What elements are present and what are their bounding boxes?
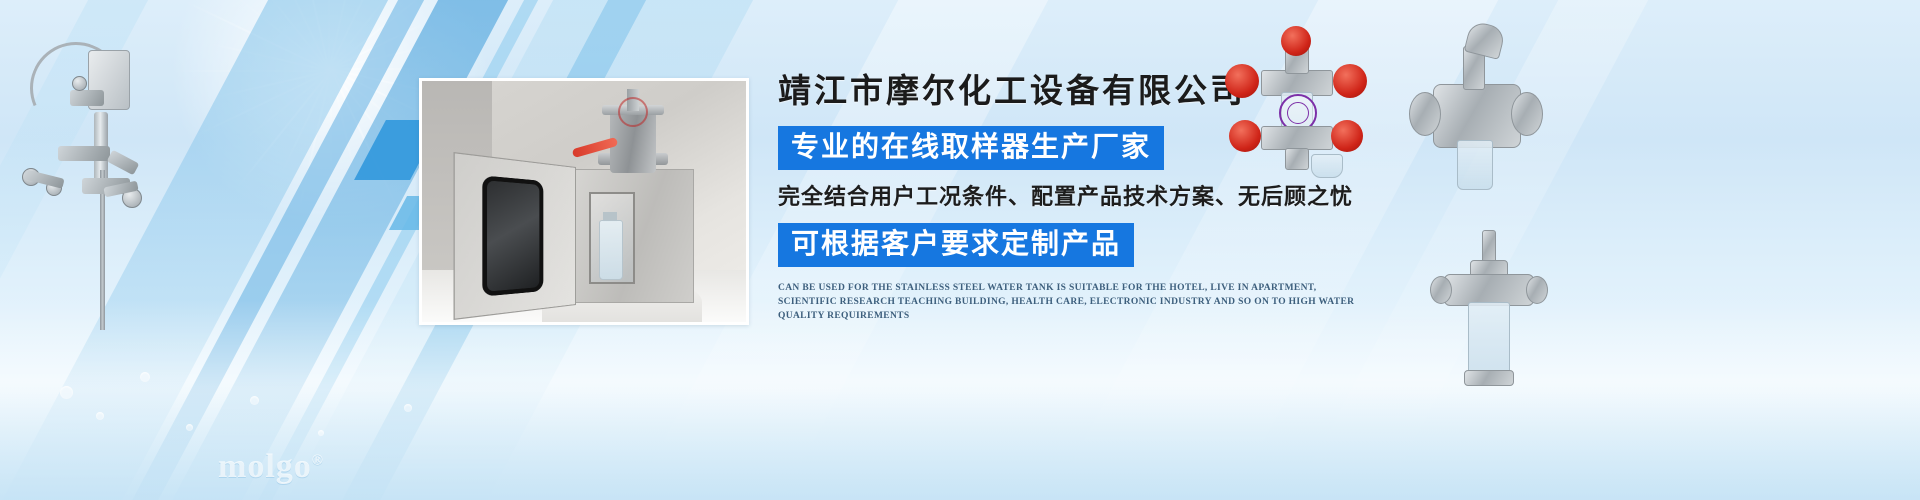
flange bbox=[1430, 276, 1452, 304]
valve-indicator-ring bbox=[618, 97, 648, 127]
red-handwheel bbox=[1333, 64, 1367, 98]
valve-housing bbox=[1433, 84, 1521, 148]
brand-watermark: molgo® bbox=[218, 448, 324, 486]
red-handwheel bbox=[1229, 120, 1261, 152]
right-equipment-manifold-lower bbox=[1215, 96, 1375, 186]
valve-body bbox=[70, 90, 104, 106]
supporting-slogan: 完全结合用户工况条件、配置产品技术方案、无后顾之忧 bbox=[778, 183, 1398, 211]
sample-bottle bbox=[1457, 140, 1493, 190]
valve-body bbox=[58, 146, 110, 161]
valve-body bbox=[107, 150, 140, 176]
valve-body bbox=[1261, 126, 1333, 150]
water-droplet bbox=[96, 412, 104, 420]
secondary-slogan-badge: 可根据客户要求定制产品 bbox=[778, 223, 1134, 267]
sample-vessel bbox=[1311, 154, 1343, 178]
sampler-cabinet bbox=[574, 169, 694, 303]
water-droplet bbox=[404, 404, 412, 412]
registered-mark-icon: ® bbox=[312, 453, 324, 469]
red-handwheel bbox=[1281, 26, 1311, 56]
water-droplet bbox=[186, 424, 193, 431]
sample-bottle bbox=[599, 220, 623, 280]
water-droplet bbox=[140, 372, 150, 382]
red-handwheel bbox=[1331, 120, 1363, 152]
right-equipment-sight-valve bbox=[1430, 230, 1560, 395]
product-photo bbox=[419, 78, 749, 325]
flange bbox=[72, 76, 87, 91]
watermark-text: molgo bbox=[218, 448, 312, 485]
flange bbox=[1526, 276, 1548, 304]
side-flange bbox=[1511, 92, 1543, 136]
water-droplet bbox=[250, 396, 259, 405]
primary-slogan-badge: 专业的在线取样器生产厂家 bbox=[778, 126, 1164, 170]
side-flange bbox=[1409, 92, 1441, 136]
base-flange bbox=[1464, 370, 1514, 386]
left-equipment-image bbox=[8, 28, 158, 328]
english-description: CAN BE USED FOR THE STAINLESS STEEL WATE… bbox=[778, 281, 1378, 323]
water-droplet bbox=[60, 386, 73, 399]
sight-glass bbox=[1468, 302, 1510, 380]
promo-banner: 靖江市摩尔化工设备有限公司 专业的在线取样器生产厂家 完全结合用户工况条件、配置… bbox=[0, 0, 1920, 500]
outlet-pipe bbox=[1285, 148, 1309, 170]
right-equipment-valve-body bbox=[1405, 28, 1550, 198]
water-droplet bbox=[318, 430, 324, 436]
red-handwheel bbox=[1225, 64, 1259, 98]
door-viewport bbox=[482, 175, 543, 296]
cabinet-door bbox=[453, 152, 576, 320]
secondary-badge-row: 可根据客户要求定制产品 bbox=[778, 223, 1398, 267]
